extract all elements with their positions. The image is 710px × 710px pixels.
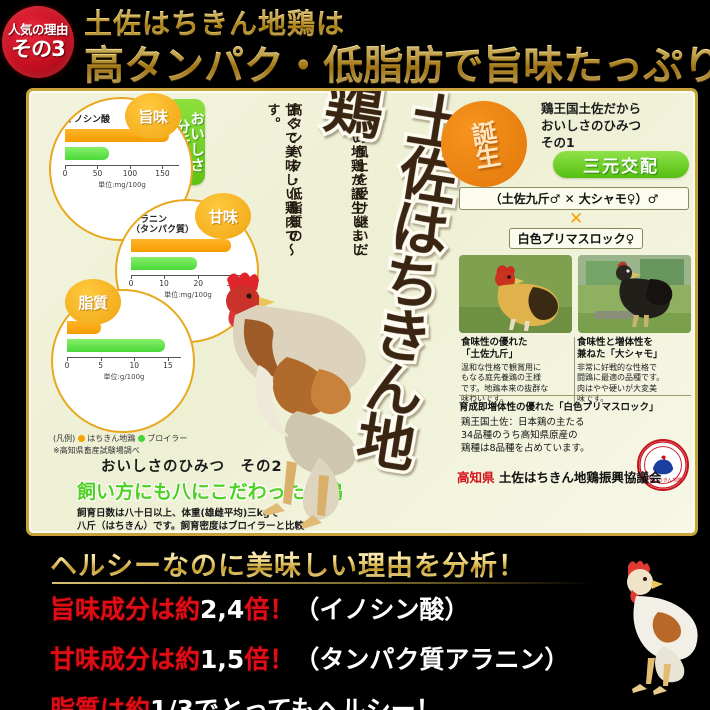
footer-line2-approx: 約 bbox=[175, 645, 200, 674]
header-title-line2: 高タンパク・低脂肪で旨味たっぷり！ bbox=[84, 33, 710, 91]
legend-dot-broiler bbox=[138, 435, 145, 442]
chart1-axis: 0 50 100 150 bbox=[65, 165, 179, 179]
chart-tag-fat: 脂質 bbox=[65, 279, 121, 325]
breeding-column: 誕生 鶏王国土佐だから おいしさのひみつ その1 三元交配 （土佐九斤♂ ✕ 大… bbox=[453, 95, 697, 535]
badge-line1: 人気の理由 bbox=[8, 23, 68, 37]
o-shamo-photo bbox=[578, 255, 691, 333]
footer-rule bbox=[52, 582, 592, 584]
badge-line2: その3 bbox=[11, 38, 65, 61]
chart2-bar-hachikin bbox=[131, 239, 231, 252]
breeding-heading: 鶏王国土佐だから おいしさのひみつ その1 bbox=[541, 101, 641, 152]
footer-line3-label: 脂質は bbox=[50, 695, 125, 710]
chart1-bar-broiler bbox=[65, 147, 109, 160]
chart3-axis: 0 5 10 15 bbox=[67, 357, 181, 371]
footer-line1-value: 2,4 bbox=[200, 595, 244, 624]
footer-line3-approx: 約 bbox=[125, 695, 150, 710]
footer-line2-suffix: 倍！ bbox=[244, 645, 294, 674]
cross-parent-line1: （土佐九斤♂ ✕ 大シャモ♀）♂ bbox=[459, 187, 689, 210]
footer-hen-photo bbox=[592, 554, 700, 704]
chicken-kingdom-note: 鶏王国土佐：日本鶏の主たる 34品種のうち高知県原産の 鶏種は8品種を占めていま… bbox=[461, 417, 641, 455]
association-prefecture: 高知県 bbox=[457, 470, 495, 485]
popularity-reason-badge: 人気の理由 その3 bbox=[2, 6, 74, 78]
three-way-cross-badge: 三元交配 bbox=[553, 151, 689, 178]
chart3-bar-broiler bbox=[67, 339, 165, 352]
legend-dot-hachikin bbox=[78, 435, 85, 442]
vertical-text-4: 甘くて美味しい鶏肉で～す。 bbox=[263, 103, 298, 283]
footer-line1-approx: 約 bbox=[175, 595, 200, 624]
footer-line-sweetness: 甘味成分は約1,5倍！（タンパク質アラニン） bbox=[50, 640, 569, 676]
caption-plymouth-rock: 育成即増体性の優れた「白色プリマスロック」 bbox=[459, 399, 695, 413]
chart-tag-umami: 旨味 bbox=[125, 93, 181, 139]
chart3-unit: 単位:g/100g bbox=[67, 372, 181, 382]
footer-line2-paren: （タンパク質アラニン） bbox=[294, 645, 569, 674]
cross-parent-line2: 白色プリマスロック♀ bbox=[509, 228, 643, 249]
footer-line1-label: 旨味成分は bbox=[50, 595, 175, 624]
footer-line2-value: 1,5 bbox=[200, 645, 244, 674]
tosa-kukin-photo bbox=[459, 255, 572, 333]
chart1-unit: 単位:mg/100g bbox=[65, 180, 179, 190]
footer-line-umami: 旨味成分は約2,4倍！（イノシン酸） bbox=[50, 590, 469, 626]
chart-tag-sweetness: 甘味 bbox=[195, 193, 251, 239]
cross-symbol-icon: ✕ bbox=[569, 209, 583, 229]
association-body: 土佐はちきん地鶏振興協議会 bbox=[499, 470, 662, 485]
page-footer: ヘルシーなのに美味しい理由を分析！ 旨味成分は約2,4倍！（イノシン酸） 甘味成… bbox=[0, 540, 710, 710]
footer-title: ヘルシーなのに美味しい理由を分析！ bbox=[50, 544, 526, 583]
legend-label-hachikin: はちきん地鶏 bbox=[87, 434, 135, 443]
association-name: 高知県 土佐はちきん地鶏振興協議会 bbox=[457, 467, 661, 486]
footer-line1-suffix: 倍！ bbox=[244, 595, 294, 624]
caption-tosa-kukin-title: 食味性の優れた 「土佐九斤」 bbox=[461, 337, 569, 361]
footer-line2-label: 甘味成分は bbox=[50, 645, 175, 674]
footer-line1-paren: （イノシン酸） bbox=[294, 595, 469, 624]
caption-o-shamo-title: 食味性と増体性を 兼ねた「大シャモ」 bbox=[577, 337, 686, 361]
footer-line3-suffix: でとってもヘルシー！ bbox=[194, 695, 441, 710]
legend-prefix: (凡例) bbox=[53, 434, 75, 443]
main-panel: 土佐はちきん地鶏 おいしさ分析表 bbox=[26, 88, 698, 536]
page-header: 人気の理由 その3 土佐はちきん地鶏は 高タンパク・低脂肪で旨味たっぷり！ bbox=[0, 0, 710, 88]
caption-divider bbox=[459, 395, 691, 396]
footer-line3-value: 1/3 bbox=[150, 695, 194, 710]
footer-line-fat: 脂質は約1/3でとってもヘルシー！ bbox=[50, 690, 441, 710]
breed-photo-row bbox=[459, 255, 691, 333]
